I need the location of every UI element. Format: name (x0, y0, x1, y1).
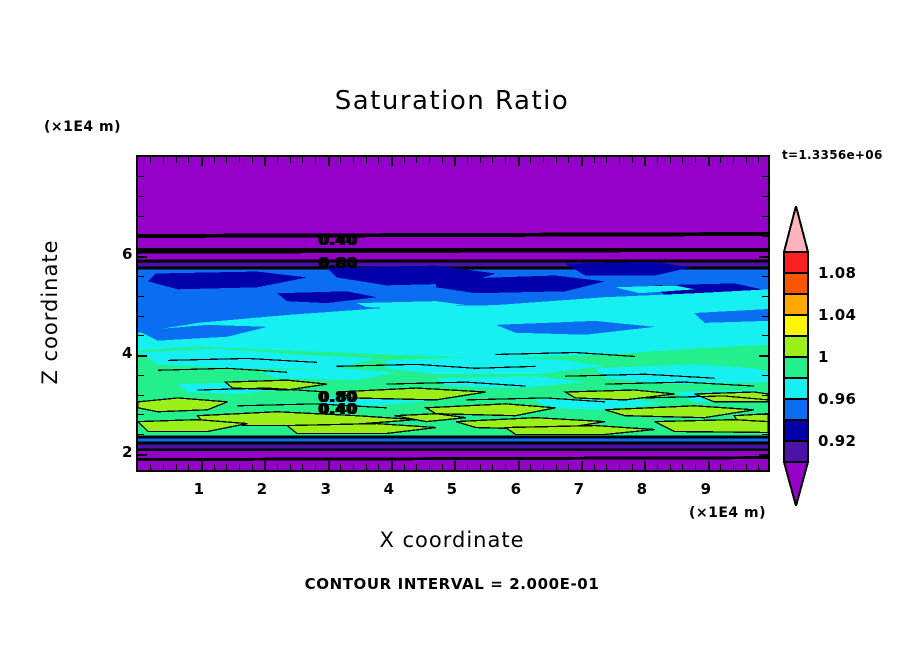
x-tick-top-minor (442, 157, 443, 163)
y-axis-title: Z coordinate (38, 202, 62, 422)
y-tick-minor (138, 375, 144, 376)
x-tick-minor (556, 464, 557, 470)
y-tick-major (138, 454, 147, 456)
x-tick-minor (188, 464, 189, 470)
x-tick-top-minor (176, 157, 177, 163)
y-tick-minor (138, 176, 144, 177)
y-tick-major (138, 355, 147, 357)
y-tick-right-minor (762, 296, 768, 297)
x-tick-minor (594, 464, 595, 470)
x-tick-top-minor (682, 157, 683, 163)
y-tick-minor (138, 276, 144, 277)
x-tick-minor (150, 464, 151, 470)
y-tick-minor (138, 316, 144, 317)
x-tick-minor (480, 464, 481, 470)
x-tick-top-major (581, 157, 583, 166)
x-tick-minor (277, 464, 278, 470)
x-tick-top-minor (720, 157, 721, 163)
x-tick-top-minor (277, 157, 278, 163)
x-tick-top-minor (556, 157, 557, 163)
x-tick-top-minor (480, 157, 481, 163)
x-tick-minor (505, 464, 506, 470)
x-tick-minor (353, 464, 354, 470)
colorbar (782, 206, 810, 506)
y-axis-unit-label: (×1E4 m) (44, 119, 121, 135)
x-tick-top-minor (530, 157, 531, 163)
y-tick-right-minor (762, 335, 768, 336)
x-tick-label: 1 (194, 480, 205, 498)
x-tick-top-minor (378, 157, 379, 163)
x-tick-minor (290, 464, 291, 470)
x-tick-minor (632, 464, 633, 470)
x-tick-minor (746, 464, 747, 470)
x-tick-top-major (391, 157, 393, 166)
x-tick-major (201, 461, 203, 470)
x-tick-top-minor (214, 157, 215, 163)
y-tick-minor (138, 335, 144, 336)
y-tick-minor (138, 196, 144, 197)
y-tick-right-minor (762, 434, 768, 435)
x-tick-top-minor (302, 157, 303, 163)
x-tick-top-minor (404, 157, 405, 163)
x-tick-minor (239, 464, 240, 470)
y-tick-right-major (759, 256, 768, 258)
x-axis-unit-label: (×1E4 m) (689, 505, 766, 521)
y-tick-right-minor (762, 196, 768, 197)
colorbar-tick-label: 1 (818, 348, 829, 366)
x-axis-title: X coordinate (0, 528, 904, 552)
x-tick-top-minor (226, 157, 227, 163)
x-tick-label: 7 (574, 480, 585, 498)
y-tick-right-minor (762, 276, 768, 277)
x-tick-top-minor (619, 157, 620, 163)
x-tick-minor (340, 464, 341, 470)
x-tick-top-minor (670, 157, 671, 163)
x-tick-minor (226, 464, 227, 470)
x-tick-minor (442, 464, 443, 470)
x-tick-minor (366, 464, 367, 470)
contour-interval-caption: CONTOUR INTERVAL = 2.000E-01 (0, 575, 904, 593)
x-tick-top-minor (150, 157, 151, 163)
x-tick-minor (758, 464, 759, 470)
x-tick-top-minor (543, 157, 544, 163)
x-tick-minor (302, 464, 303, 470)
page-title: Saturation Ratio (0, 86, 904, 116)
x-tick-top-major (518, 157, 520, 166)
contour-label: 0.80 (318, 254, 357, 272)
x-tick-top-minor (733, 157, 734, 163)
y-tick-right-minor (762, 176, 768, 177)
y-tick-right-minor (762, 375, 768, 376)
x-tick-minor (568, 464, 569, 470)
x-tick-label: 8 (637, 480, 648, 498)
x-tick-top-major (454, 157, 456, 166)
contour-label: 0.40 (318, 400, 357, 418)
x-tick-major (644, 461, 646, 470)
x-tick-minor (670, 464, 671, 470)
x-tick-top-minor (252, 157, 253, 163)
x-tick-top-minor (188, 157, 189, 163)
x-tick-top-minor (353, 157, 354, 163)
x-tick-minor (214, 464, 215, 470)
x-tick-minor (530, 464, 531, 470)
x-tick-label: 2 (257, 480, 268, 498)
x-tick-major (328, 461, 330, 470)
y-tick-label: 2 (122, 443, 132, 461)
x-tick-top-minor (290, 157, 291, 163)
x-tick-minor (315, 464, 316, 470)
x-tick-minor (619, 464, 620, 470)
x-tick-major (391, 461, 393, 470)
x-tick-minor (695, 464, 696, 470)
x-tick-label: 3 (321, 480, 332, 498)
x-tick-minor (416, 464, 417, 470)
x-tick-top-minor (568, 157, 569, 163)
x-tick-label: 4 (384, 480, 395, 498)
y-tick-right-minor (762, 414, 768, 415)
y-tick-label: 4 (122, 344, 132, 362)
x-tick-minor (252, 464, 253, 470)
x-tick-minor (429, 464, 430, 470)
y-tick-major (138, 256, 147, 258)
x-tick-minor (733, 464, 734, 470)
x-tick-minor (176, 464, 177, 470)
y-tick-right-major (759, 355, 768, 357)
x-tick-top-minor (315, 157, 316, 163)
x-tick-top-minor (746, 157, 747, 163)
x-tick-top-minor (657, 157, 658, 163)
x-tick-minor (657, 464, 658, 470)
x-tick-top-minor (340, 157, 341, 163)
x-tick-minor (467, 464, 468, 470)
x-tick-top-major (264, 157, 266, 166)
x-tick-top-minor (758, 157, 759, 163)
x-tick-major (581, 461, 583, 470)
x-tick-minor (163, 464, 164, 470)
x-tick-minor (378, 464, 379, 470)
x-tick-top-minor (594, 157, 595, 163)
x-tick-top-major (201, 157, 203, 166)
y-tick-right-minor (762, 316, 768, 317)
y-tick-minor (138, 236, 144, 237)
contour-field (138, 157, 768, 470)
x-tick-minor (606, 464, 607, 470)
y-tick-right-major (759, 454, 768, 456)
y-tick-label: 6 (122, 245, 132, 263)
x-tick-top-major (328, 157, 330, 166)
colorbar-tick-label: 1.08 (818, 264, 856, 282)
y-tick-right-minor (762, 216, 768, 217)
x-tick-top-minor (429, 157, 430, 163)
x-tick-top-minor (416, 157, 417, 163)
x-tick-minor (543, 464, 544, 470)
x-tick-top-minor (505, 157, 506, 163)
x-tick-label: 5 (447, 480, 458, 498)
x-tick-major (264, 461, 266, 470)
x-tick-major (454, 461, 456, 470)
y-tick-minor (138, 395, 144, 396)
x-tick-top-minor (632, 157, 633, 163)
colorbar-tick-label: 1.04 (818, 306, 856, 324)
x-tick-major (518, 461, 520, 470)
x-tick-top-minor (366, 157, 367, 163)
x-tick-top-minor (606, 157, 607, 163)
x-tick-top-minor (239, 157, 240, 163)
x-tick-minor (404, 464, 405, 470)
contour-plot-panel: 0.40 0.80 0.80 0.40 (136, 155, 770, 472)
y-tick-minor (138, 296, 144, 297)
x-tick-top-minor (492, 157, 493, 163)
colorbar-tick-label: 0.96 (818, 390, 856, 408)
x-tick-minor (720, 464, 721, 470)
y-tick-minor (138, 216, 144, 217)
x-tick-minor (492, 464, 493, 470)
contour-label: 0.40 (318, 231, 357, 249)
y-tick-minor (138, 414, 144, 415)
x-tick-label: 6 (511, 480, 522, 498)
y-tick-right-minor (762, 236, 768, 237)
time-annotation: t=1.3356e+06 (782, 148, 883, 162)
y-tick-right-minor (762, 395, 768, 396)
x-tick-top-major (708, 157, 710, 166)
y-tick-minor (138, 434, 144, 435)
x-tick-top-major (644, 157, 646, 166)
colorbar-tick-label: 0.92 (818, 432, 856, 450)
x-tick-top-minor (695, 157, 696, 163)
x-tick-major (708, 461, 710, 470)
x-tick-label: 9 (701, 480, 712, 498)
x-tick-top-minor (163, 157, 164, 163)
x-tick-minor (682, 464, 683, 470)
x-tick-top-minor (467, 157, 468, 163)
